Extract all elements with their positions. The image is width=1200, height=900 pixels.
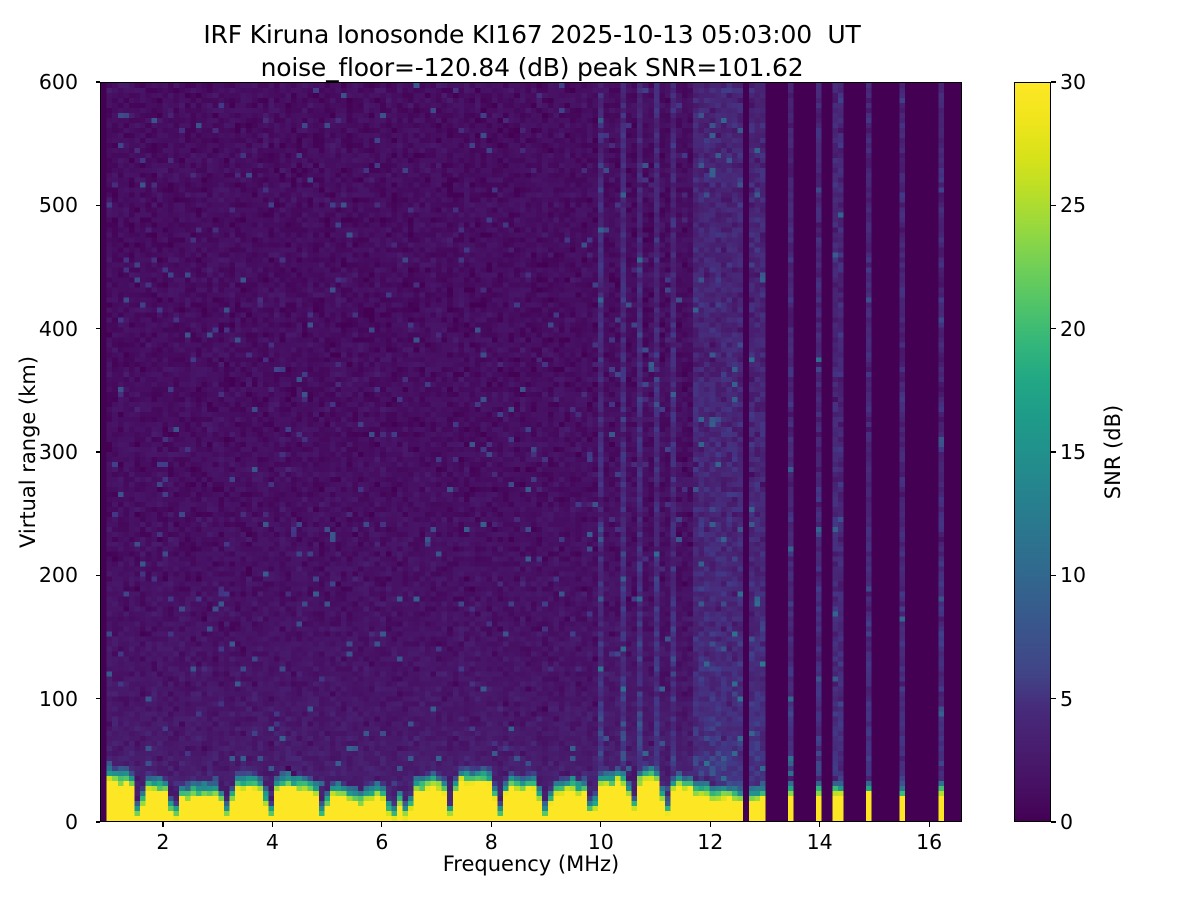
x-tick-label: 2 — [156, 830, 169, 854]
y-tick-label: 100 — [39, 687, 78, 711]
colorbar-label: SNR (dB) — [1098, 82, 1128, 822]
y-axis-label: Virtual range (km) — [14, 82, 42, 822]
x-tick — [600, 822, 601, 827]
figure-title: IRF Kiruna Ionosonde KI167 2025-10-13 05… — [0, 18, 1064, 84]
y-tick-label: 400 — [39, 317, 78, 341]
x-tick — [710, 822, 711, 827]
colorbar-tick-label: 10 — [1060, 563, 1086, 587]
colorbar-tick — [1051, 575, 1056, 576]
colorbar-tick-label: 30 — [1060, 70, 1086, 94]
title-line-1: IRF Kiruna Ionosonde KI167 2025-10-13 05… — [0, 18, 1064, 51]
y-tick-label: 600 — [39, 70, 78, 94]
colorbar-label-text: SNR (dB) — [1101, 405, 1125, 499]
y-tick — [96, 81, 101, 82]
colorbar-tick — [1051, 698, 1056, 699]
ionogram-heatmap — [101, 83, 961, 821]
y-tick — [96, 451, 101, 452]
x-tick-label: 6 — [375, 830, 388, 854]
y-tick — [96, 698, 101, 699]
x-tick-label: 14 — [807, 830, 833, 854]
y-tick — [96, 205, 101, 206]
colorbar-tick — [1051, 821, 1056, 822]
x-tick — [929, 822, 930, 827]
colorbar-tick — [1051, 451, 1056, 452]
x-tick-label: 16 — [916, 830, 942, 854]
y-tick-label: 200 — [39, 563, 78, 587]
y-axis-label-text: Virtual range (km) — [16, 356, 40, 548]
y-tick-label: 0 — [65, 810, 78, 834]
plot-axes — [100, 82, 962, 822]
x-tick-label: 8 — [485, 830, 498, 854]
x-tick — [819, 822, 820, 827]
colorbar-tick-label: 15 — [1060, 440, 1086, 464]
colorbar-tick — [1051, 81, 1056, 82]
colorbar-tick-label: 20 — [1060, 317, 1086, 341]
x-tick-label: 4 — [266, 830, 279, 854]
y-tick — [96, 328, 101, 329]
y-tick-label: 300 — [39, 440, 78, 464]
title-line-2: noise_floor=-120.84 (dB) peak SNR=101.62 — [0, 51, 1064, 84]
x-tick — [162, 822, 163, 827]
x-tick-label: 10 — [588, 830, 614, 854]
x-tick-label: 12 — [697, 830, 723, 854]
colorbar — [1014, 82, 1051, 822]
heatmap-canvas — [101, 83, 961, 821]
y-tick-label: 500 — [39, 193, 78, 217]
y-tick — [96, 575, 101, 576]
colorbar-tick — [1051, 328, 1056, 329]
x-axis-label: Frequency (MHz) — [100, 852, 962, 876]
colorbar-tick-label: 5 — [1060, 687, 1073, 711]
colorbar-tick-label: 0 — [1060, 810, 1073, 834]
x-tick — [381, 822, 382, 827]
x-tick — [491, 822, 492, 827]
colorbar-tick-label: 25 — [1060, 193, 1086, 217]
x-tick — [272, 822, 273, 827]
ionogram-figure: IRF Kiruna Ionosonde KI167 2025-10-13 05… — [0, 0, 1200, 900]
y-tick — [96, 821, 101, 822]
colorbar-tick — [1051, 205, 1056, 206]
